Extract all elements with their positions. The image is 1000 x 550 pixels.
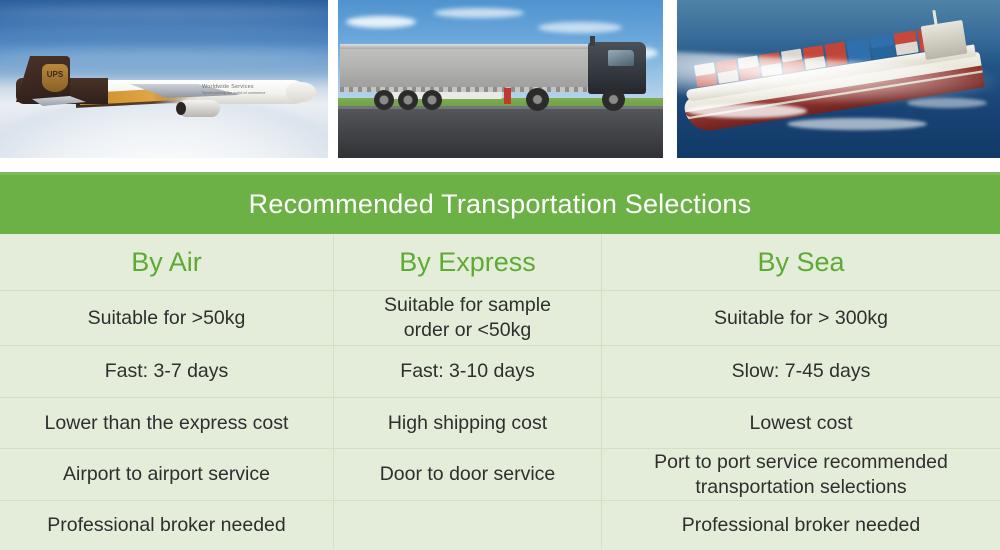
sea-foam xyxy=(907,98,987,108)
cell-air-service: Airport to airport service xyxy=(0,449,334,500)
cloud-band xyxy=(0,26,328,34)
transportation-comparison-page: Worldwide Services Synchronizing the wor… xyxy=(0,0,1000,550)
cell-air-speed: Fast: 3-7 days xyxy=(0,346,334,397)
cell-sea-service: Port to port service recommendedtranspor… xyxy=(602,449,1000,500)
table-row: Lower than the express cost High shippin… xyxy=(0,398,1000,449)
ship-superstructure xyxy=(921,20,968,60)
photo-strip: Worldwide Services Synchronizing the wor… xyxy=(0,0,1000,158)
truck-wheel xyxy=(602,88,625,111)
road-freight-photo xyxy=(338,0,663,158)
sea-foam xyxy=(687,104,807,118)
fuselage-text: Worldwide Services Synchronizing the wor… xyxy=(202,84,294,96)
truck-wheel xyxy=(374,90,394,110)
cell-air-weight: Suitable for >50kg xyxy=(0,291,334,345)
fuselage-text-line1: Worldwide Services xyxy=(202,84,294,91)
cell-sea-speed: Slow: 7-45 days xyxy=(602,346,1000,397)
cloud-band xyxy=(0,8,328,18)
table-row: Suitable for >50kg Suitable for sampleor… xyxy=(0,291,1000,346)
column-header-by-air: By Air xyxy=(0,234,334,290)
cell-sea-broker: Professional broker needed xyxy=(602,501,1000,549)
trailer-red-marker xyxy=(504,88,511,104)
table-row: Fast: 3-7 days Fast: 3-10 days Slow: 7-4… xyxy=(0,346,1000,398)
airplane-engine xyxy=(178,100,220,117)
column-header-by-express: By Express xyxy=(334,234,602,290)
truck-exhaust-stack xyxy=(590,36,595,46)
cell-express-weight: Suitable for sampleorder or <50kg xyxy=(334,291,602,345)
table-row: Professional broker needed Professional … xyxy=(0,501,1000,549)
cell-air-broker: Professional broker needed xyxy=(0,501,334,549)
truck-wheel xyxy=(398,90,418,110)
airplane-tail-fin xyxy=(16,56,70,102)
sea-freight-photo xyxy=(677,0,1000,158)
cell-express-cost: High shipping cost xyxy=(334,398,602,448)
cell-sea-weight: Suitable for > 300kg xyxy=(602,291,1000,345)
trailer-roof xyxy=(340,44,592,49)
ups-logo-icon xyxy=(42,64,68,92)
column-header-by-sea: By Sea xyxy=(602,234,1000,290)
sea-foam xyxy=(787,118,927,130)
table-title: Recommended Transportation Selections xyxy=(0,172,1000,234)
cloud xyxy=(538,22,622,33)
recommended-transportation-table: Recommended Transportation Selections By… xyxy=(0,172,1000,550)
semi-truck xyxy=(340,42,658,114)
cell-express-service: Door to door service xyxy=(334,449,602,500)
cell-air-cost: Lower than the express cost xyxy=(0,398,334,448)
truck-window xyxy=(608,50,634,66)
truck-trailer xyxy=(340,44,592,92)
truck-wheel xyxy=(526,88,549,111)
table-header-row: By Air By Express By Sea xyxy=(0,234,1000,291)
cloud xyxy=(346,16,416,28)
table-row: Airport to airport service Door to door … xyxy=(0,449,1000,501)
cargo-airplane: Worldwide Services Synchronizing the wor… xyxy=(2,56,322,126)
fuselage-text-line2: Synchronizing the world of commerce xyxy=(202,91,294,96)
cell-express-speed: Fast: 3-10 days xyxy=(334,346,602,397)
truck-wheel xyxy=(422,90,442,110)
air-freight-photo: Worldwide Services Synchronizing the wor… xyxy=(0,0,328,158)
cell-sea-cost: Lowest cost xyxy=(602,398,1000,448)
cell-express-broker xyxy=(334,501,602,549)
cloud xyxy=(434,8,524,18)
